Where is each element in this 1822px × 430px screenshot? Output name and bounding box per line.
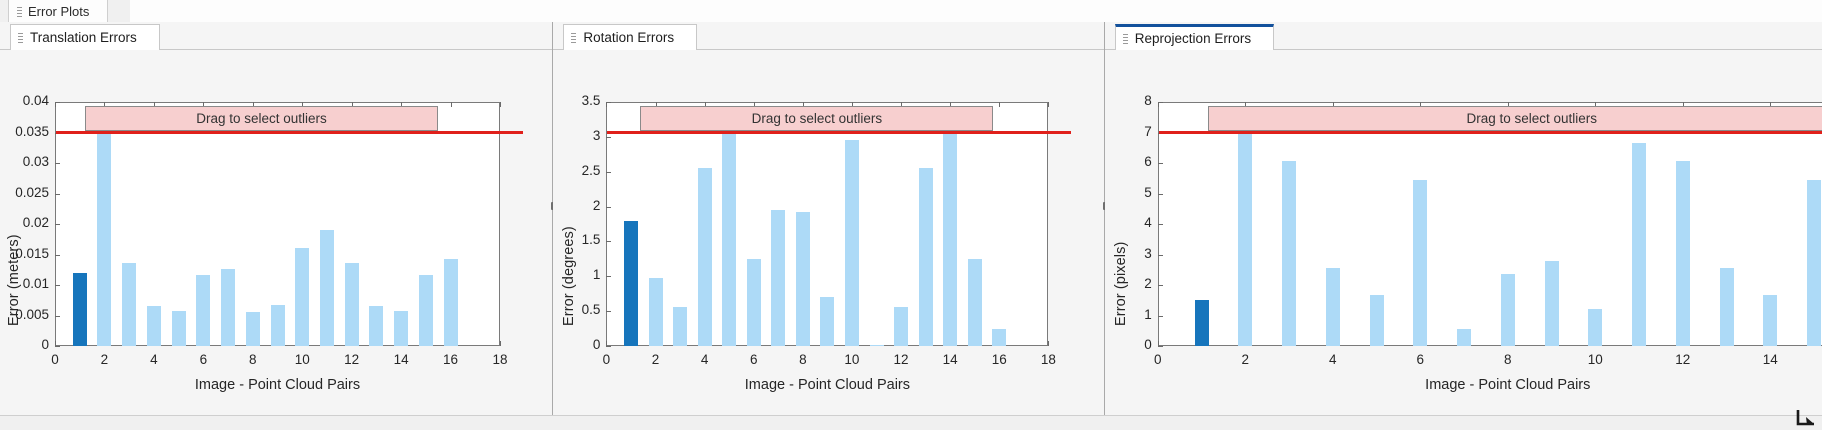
bar[interactable] — [1326, 268, 1340, 346]
x-tick-mark-top — [1158, 102, 1159, 107]
bar[interactable] — [870, 345, 884, 346]
x-tick-label: 0 — [584, 352, 628, 367]
x-tick-mark-top — [451, 102, 452, 107]
chart-1: 00.0050.010.0150.020.0250.030.0350.04024… — [0, 50, 552, 430]
outlier-threshold-line[interactable] — [56, 131, 523, 134]
y-tick-mark — [55, 194, 60, 195]
drag-grip-icon — [571, 32, 576, 43]
panel-tabbar-2: Rotation Errors — [553, 22, 1103, 50]
panel-tab-label: Translation Errors — [30, 30, 137, 45]
x-axis-label: Image - Point Cloud Pairs — [606, 377, 1048, 393]
outlier-threshold-line[interactable] — [1159, 131, 1822, 134]
x-tick-label: 8 — [231, 352, 275, 367]
bar[interactable] — [1370, 295, 1384, 346]
x-tick-label: 4 — [1311, 352, 1355, 367]
bar[interactable] — [196, 275, 210, 346]
bar[interactable] — [747, 259, 761, 346]
x-tick-label: 18 — [478, 352, 522, 367]
outlier-band-label: Drag to select outliers — [196, 111, 327, 126]
y-tick-mark — [1158, 316, 1163, 317]
x-tick-mark-top — [55, 102, 56, 107]
x-tick-label: 12 — [879, 352, 923, 367]
bar[interactable] — [820, 297, 834, 346]
x-tick-mark-top — [606, 102, 607, 107]
bar[interactable] — [992, 329, 1006, 346]
bar[interactable] — [649, 278, 663, 346]
y-tick-label: 3.5 — [554, 93, 600, 108]
document-tabbar-filler — [130, 0, 1822, 23]
y-tick-mark — [55, 346, 60, 347]
y-tick-mark — [606, 311, 611, 312]
x-tick-label: 2 — [82, 352, 126, 367]
y-axis-label: Error (meters) — [6, 132, 22, 326]
bar[interactable] — [698, 168, 712, 346]
bar-highlighted[interactable] — [624, 221, 638, 346]
plot-panel-3: Reprojection Errors01234567802468101214D… — [1105, 22, 1822, 430]
bar[interactable] — [1807, 180, 1821, 346]
bar[interactable] — [1282, 161, 1296, 346]
bar[interactable] — [1588, 309, 1602, 346]
tab-reprojection-errors[interactable]: Reprojection Errors — [1115, 24, 1274, 50]
x-tick-label: 6 — [181, 352, 225, 367]
y-tick-label: 8 — [1106, 93, 1152, 108]
panel-tab-label: Rotation Errors — [583, 30, 674, 45]
bar[interactable] — [444, 259, 458, 346]
resize-handle-icon[interactable] — [1794, 404, 1820, 430]
x-tick-label: 4 — [132, 352, 176, 367]
x-tick-label: 6 — [732, 352, 776, 367]
x-tick-mark-top — [999, 102, 1000, 107]
bar-highlighted[interactable] — [73, 273, 87, 346]
y-tick-mark — [1158, 163, 1163, 164]
outlier-selection-band[interactable]: Drag to select outliers — [1208, 106, 1822, 131]
panel-tabbar-3: Reprojection Errors — [1105, 22, 1822, 50]
x-tick-mark — [1158, 341, 1159, 346]
x-tick-label: 10 — [830, 352, 874, 367]
bar[interactable] — [894, 307, 908, 346]
x-tick-label: 14 — [379, 352, 423, 367]
y-tick-label: 0 — [1106, 337, 1152, 352]
x-tick-mark-top — [1048, 102, 1049, 107]
outlier-selection-band[interactable]: Drag to select outliers — [640, 106, 993, 131]
bar[interactable] — [1413, 180, 1427, 346]
bar[interactable] — [1238, 121, 1252, 346]
x-tick-label: 0 — [33, 352, 77, 367]
x-tick-label: 12 — [330, 352, 374, 367]
bar[interactable] — [845, 140, 859, 346]
document-tab-label: Error Plots — [28, 4, 89, 19]
bar[interactable] — [147, 306, 161, 346]
document-tab-error-plots[interactable]: Error Plots — [8, 0, 108, 22]
chart-3: 01234567802468101214Drag to select outli… — [1105, 50, 1822, 430]
bar[interactable] — [122, 263, 136, 346]
y-tick-mark — [606, 207, 611, 208]
y-axis-label: Error (degrees) — [561, 132, 577, 326]
y-tick-mark — [55, 285, 60, 286]
bar[interactable] — [320, 230, 334, 346]
bar[interactable] — [796, 212, 810, 346]
x-axis-label: Image - Point Cloud Pairs — [1158, 377, 1822, 393]
bar[interactable] — [394, 311, 408, 346]
x-tick-label: 10 — [1573, 352, 1617, 367]
x-tick-label: 16 — [429, 352, 473, 367]
x-tick-mark-top — [500, 102, 501, 107]
x-tick-mark — [606, 341, 607, 346]
x-tick-label: 8 — [781, 352, 825, 367]
chart-2: 00.511.522.533.5024681012141618Drag to s… — [553, 50, 1103, 430]
x-tick-label: 12 — [1661, 352, 1705, 367]
bar[interactable] — [1763, 295, 1777, 346]
y-tick-mark — [606, 346, 611, 347]
x-tick-label: 18 — [1026, 352, 1070, 367]
bar[interactable] — [968, 259, 982, 346]
tab-rotation-errors[interactable]: Rotation Errors — [563, 24, 697, 50]
bar[interactable] — [919, 168, 933, 346]
bar[interactable] — [369, 306, 383, 346]
y-tick-label: 0 — [554, 337, 600, 352]
bottom-status-bar — [0, 415, 1822, 430]
y-tick-label: 0 — [3, 337, 49, 352]
bar[interactable] — [345, 263, 359, 346]
drag-grip-icon — [1123, 33, 1128, 44]
x-tick-label: 4 — [683, 352, 727, 367]
error-plots-window: Error Plots Translation Errors00.0050.01… — [0, 0, 1822, 430]
bar[interactable] — [771, 210, 785, 346]
x-tick-label: 6 — [1398, 352, 1442, 367]
x-tick-label: 2 — [1223, 352, 1267, 367]
bar-highlighted[interactable] — [1195, 300, 1209, 346]
x-axis-label: Image - Point Cloud Pairs — [55, 377, 500, 393]
x-tick-label: 8 — [1486, 352, 1530, 367]
plot-panel-container: Translation Errors00.0050.010.0150.020.0… — [0, 22, 1822, 430]
bar[interactable] — [419, 275, 433, 346]
x-tick-mark — [55, 341, 56, 346]
x-tick-label: 10 — [280, 352, 324, 367]
bar[interactable] — [1457, 329, 1471, 346]
y-tick-mark — [606, 276, 611, 277]
x-tick-label: 16 — [977, 352, 1021, 367]
bar[interactable] — [221, 269, 235, 346]
y-tick-mark — [1158, 346, 1163, 347]
y-tick-mark — [1158, 194, 1163, 195]
x-tick-label: 14 — [1748, 352, 1792, 367]
panel-tabbar-1: Translation Errors — [0, 22, 552, 50]
outlier-band-label: Drag to select outliers — [1467, 111, 1598, 126]
bar[interactable] — [97, 134, 111, 346]
bar[interactable] — [943, 121, 957, 346]
y-tick-mark — [55, 224, 60, 225]
bar[interactable] — [1545, 261, 1559, 346]
plot-panel-2: Rotation Errors00.511.522.533.5024681012… — [553, 22, 1103, 430]
panel-tab-label: Reprojection Errors — [1135, 31, 1251, 46]
x-tick-label: 0 — [1136, 352, 1180, 367]
y-tick-mark — [606, 241, 611, 242]
outlier-selection-band[interactable]: Drag to select outliers — [85, 106, 438, 131]
plot-panel-1: Translation Errors00.0050.010.0150.020.0… — [0, 22, 552, 430]
y-tick-mark — [55, 163, 60, 164]
document-tabbar: Error Plots — [0, 0, 1822, 22]
x-tick-label: 14 — [928, 352, 972, 367]
bar[interactable] — [673, 307, 687, 346]
outlier-threshold-line[interactable] — [607, 131, 1071, 134]
bar[interactable] — [1632, 143, 1646, 346]
y-tick-mark — [1158, 285, 1163, 286]
y-tick-mark — [606, 172, 611, 173]
x-tick-mark — [500, 341, 501, 346]
bar[interactable] — [295, 248, 309, 346]
y-tick-mark — [606, 137, 611, 138]
bar[interactable] — [1720, 268, 1734, 346]
y-tick-mark — [55, 255, 60, 256]
x-tick-label: 2 — [634, 352, 678, 367]
bar[interactable] — [271, 305, 285, 346]
bar[interactable] — [172, 311, 186, 346]
bar[interactable] — [1676, 161, 1690, 346]
y-axis-label: Error (pixels) — [1113, 132, 1129, 326]
drag-grip-icon — [17, 6, 22, 17]
y-tick-mark — [1158, 224, 1163, 225]
y-tick-mark — [1158, 255, 1163, 256]
y-tick-label: 0.04 — [3, 93, 49, 108]
bar[interactable] — [246, 312, 260, 346]
outlier-band-label: Drag to select outliers — [752, 111, 883, 126]
drag-grip-icon — [18, 32, 23, 43]
x-tick-mark — [1048, 341, 1049, 346]
bar[interactable] — [722, 121, 736, 346]
tab-translation-errors[interactable]: Translation Errors — [10, 24, 160, 50]
y-tick-mark — [55, 316, 60, 317]
bar[interactable] — [1501, 274, 1515, 346]
